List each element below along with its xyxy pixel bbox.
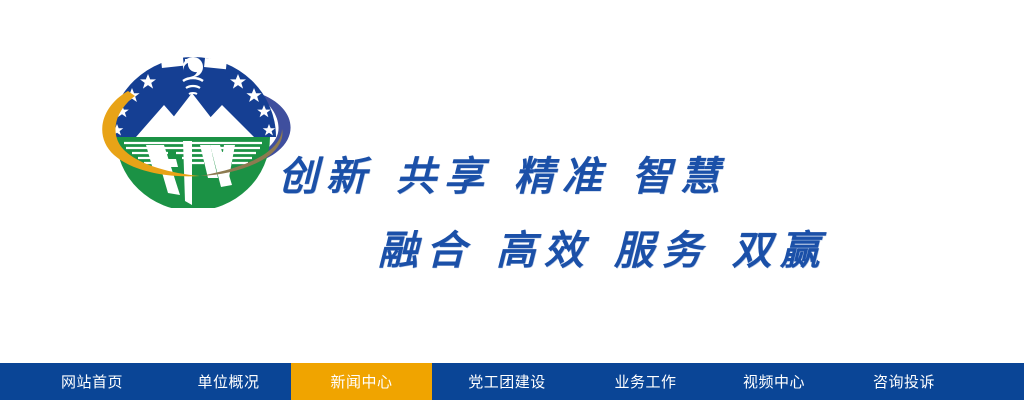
nav-item-3[interactable]: 党工团建设 [432,363,582,400]
nav-item-5[interactable]: 视频中心 [709,363,839,400]
slogan-line-1: 创新 共享 精准 智慧 [278,144,728,202]
slogan-block: 创新 共享 精准 智慧 融合 高效 服务 双赢 [270,140,890,285]
page-root: 创新 共享 精准 智慧 融合 高效 服务 双赢 网站首页单位概况新闻中心党工团建… [0,0,1024,400]
slogan-line-2: 融合 高效 服务 双赢 [378,218,828,276]
main-navigation: 网站首页单位概况新闻中心党工团建设业务工作视频中心咨询投诉 [0,363,1024,400]
nav-item-1[interactable]: 单位概况 [166,363,291,400]
nav-item-6[interactable]: 咨询投诉 [839,363,969,400]
globe-satellite-mountain-logo [88,33,298,208]
globe-dome-icon [110,57,276,163]
site-banner: 创新 共享 精准 智慧 融合 高效 服务 双赢 [0,0,1024,363]
nav-item-0[interactable]: 网站首页 [18,363,166,400]
nav-item-2[interactable]: 新闻中心 [291,363,432,400]
site-logo[interactable] [88,33,298,208]
nav-item-4[interactable]: 业务工作 [582,363,709,400]
nav-left-spacer [0,363,18,400]
